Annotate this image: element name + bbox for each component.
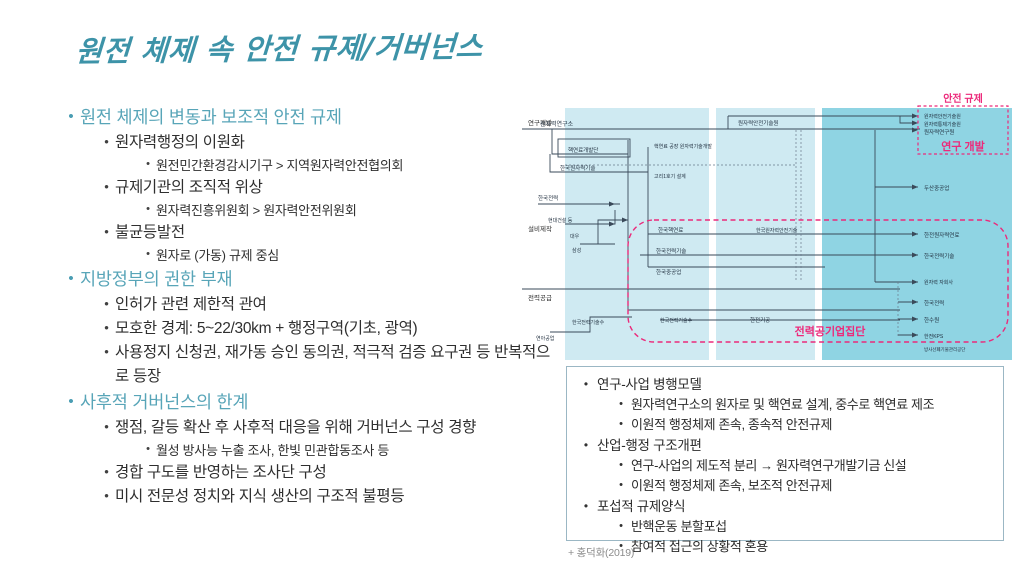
diagram-node-right-5: 한국전력기술 — [924, 252, 954, 260]
diagram-node-left-4: 현대건설 등 — [548, 217, 573, 224]
diagram-node-left-5: 대우 — [570, 233, 580, 240]
bullet-icon: • — [62, 389, 80, 409]
outline-item-label: 인허가 관련 제한적 관여 — [115, 293, 562, 317]
outline-item-l2-3: •규제기관의 조직적 위상 — [98, 176, 562, 200]
outline-item-label: 원전민간환경감시기구 > 지역원자력안전협의회 — [156, 155, 562, 176]
outline-item-l3-6: •원자로 (가동) 규제 중심 — [140, 245, 562, 266]
diagram-node-right-4: 한전원자력연료 — [924, 231, 959, 239]
bullet-icon: • — [575, 435, 597, 451]
summary-item-label: 이원적 행정체제 존속, 보조적 안전규제 — [631, 476, 995, 496]
diagram-node-left-0: 원자력연구소 — [540, 120, 574, 128]
outline-item-l3-13: •월성 방사능 누출 조사, 한빛 민관합동조사 등 — [140, 440, 562, 461]
bullet-icon: • — [140, 440, 156, 455]
governance-diagram: 연구개발 설비제작 전력공급 — [520, 92, 1016, 360]
bullet-icon: • — [62, 266, 80, 286]
diagram-node-right-2: 원자력연구원 — [924, 128, 954, 136]
outline-item-l3-4: •원자력진흥위원회 > 원자력안전위원회 — [140, 200, 562, 221]
diagram-node-right-1: 원자력통제기술원 — [924, 121, 961, 128]
outline-item-label: 모호한 경계: 5~22/30km + 행정구역(기초, 광역) — [115, 317, 562, 341]
bullet-icon: • — [140, 200, 156, 215]
bullet-icon: • — [98, 416, 115, 433]
bullet-icon: • — [98, 341, 115, 358]
summary-item-l2-4: •연구-사업의 제도적 분리 → 원자력연구개발기금 신설 — [611, 456, 995, 476]
summary-item-label: 원자력연구소의 원자로 및 핵연료 설계, 중수로 핵연료 제조 — [631, 395, 995, 415]
outline-item-l2-1: •원자력행정의 이원화 — [98, 131, 562, 155]
bullet-icon: • — [611, 456, 631, 471]
summary-item-l2-8: •참여적 접근의 상황적 혼용 — [611, 537, 995, 557]
diagram-node-center-5: 한국전력기술수 — [660, 317, 693, 324]
outline-item-l2-12: •쟁점, 갈등 확산 후 사후적 대응을 위해 거버넌스 구성 경향 — [98, 416, 562, 440]
diagram-node-right-10: 방사선폐기물관리공단 — [924, 346, 965, 353]
bullet-icon: • — [611, 476, 631, 491]
diagram-node-left-6: 삼성 — [572, 247, 581, 254]
outline-item-l2-8: •인허가 관련 제한적 관여 — [98, 293, 562, 317]
outline-item-label: 경합 구도를 반영하는 조사단 구성 — [115, 461, 562, 485]
outline-item-label: 원자로 (가동) 규제 중심 — [156, 245, 562, 266]
summary-item-l1-6: •포섭적 규제양식 — [575, 496, 995, 517]
diagram-node-center-4: 한국중공업 — [656, 268, 681, 276]
outline-item-label: 불균등발전 — [115, 221, 562, 245]
outline-item-label: 원자력진흥위원회 > 원자력안전위원회 — [156, 200, 562, 221]
outline-item-label: 원자력행정의 이원화 — [115, 131, 562, 155]
diagram-node-center-3: 한국전력기술 — [656, 247, 686, 255]
diagram-row-label-1: 설비제작 — [528, 224, 552, 233]
bullet-icon: • — [611, 517, 631, 532]
bullet-icon: • — [98, 176, 115, 193]
diagram-node-left-8: 연아공업 — [536, 335, 554, 342]
bullet-icon: • — [62, 104, 80, 124]
outline-list: •원전 체제의 변동과 보조적 안전 규제•원자력행정의 이원화•원전민간환경감… — [62, 104, 562, 509]
bullet-icon: • — [98, 317, 115, 334]
outline-item-label: 사후적 거버넌스의 한계 — [80, 389, 562, 415]
outline-item-label: 규제기관의 조직적 위상 — [115, 176, 562, 200]
diagram-node-right-9: 한전KPS — [924, 333, 944, 340]
diagram-node-left-1: 핵연료개발단 — [568, 146, 598, 154]
summary-item-label: 포섭적 규제양식 — [597, 496, 995, 517]
summary-item-l1-0: •연구-사업 병행모델 — [575, 374, 995, 395]
outline-item-label: 쟁점, 갈등 확산 후 사후적 대응을 위해 거버넌스 구성 경향 — [115, 416, 562, 440]
outline-item-l2-10: •사용정지 신청권, 재가동 승인 동의권, 적극적 검증 요구권 등 반복적으… — [98, 341, 562, 389]
bullet-icon: • — [98, 221, 115, 238]
outline-item-l1-0: •원전 체제의 변동과 보조적 안전 규제 — [62, 104, 562, 130]
summary-item-label: 이원적 행정체제 존속, 종속적 안전규제 — [631, 415, 995, 435]
bullet-icon: • — [140, 245, 156, 260]
outline-item-l3-2: •원전민간환경감시기구 > 지역원자력안전협의회 — [140, 155, 562, 176]
diagram-node-right-7: 한국전력 — [924, 299, 944, 307]
source-citation: + 홍덕화(2019) — [568, 545, 634, 560]
summary-box: •연구-사업 병행모델•원자력연구소의 원자로 및 핵연료 설계, 중수로 핵연… — [566, 366, 1004, 541]
summary-item-l2-1: •원자력연구소의 원자로 및 핵연료 설계, 중수로 핵연료 제조 — [611, 395, 995, 415]
summary-item-l1-3: •산업-행정 구조개편 — [575, 435, 995, 456]
summary-item-l2-7: •반핵운동 분할포섭 — [611, 517, 995, 537]
bullet-icon: • — [140, 155, 156, 170]
summary-item-l2-5: •이원적 행정체제 존속, 보조적 안전규제 — [611, 476, 995, 496]
outline-item-label: 원전 체제의 변동과 보조적 안전 규제 — [80, 104, 562, 130]
outline-item-label: 사용정지 신청권, 재가동 승인 동의권, 적극적 검증 요구권 등 반복적으로… — [115, 341, 562, 389]
bullet-icon: • — [575, 496, 597, 512]
diagram-node-center-0: 핵연료 공장 원자력기술개발 — [654, 143, 712, 150]
diagram-canvas: 연구개발 설비제작 전력공급 — [520, 92, 1016, 360]
outline-item-label: 미시 전문성 정치와 지식 생산의 구조적 불평등 — [115, 485, 562, 509]
pink-box-power-group-label: 전력공기업집단 — [795, 324, 866, 338]
summary-item-label: 산업-행정 구조개편 — [597, 435, 995, 456]
outline-item-label: 지방정부의 권한 부재 — [80, 266, 562, 292]
diagram-node-center-6: 원자력안전기술원 — [738, 119, 778, 127]
bullet-icon: • — [611, 395, 631, 410]
outline-item-l1-7: •지방정부의 권한 부재 — [62, 266, 562, 292]
diagram-node-right-6: 원자력 자회사 — [924, 279, 953, 286]
diagram-header-label: 안전 규제 — [943, 92, 983, 105]
diagram-row-label-2: 전력공급 — [528, 293, 552, 302]
summary-item-label: 연구-사업 병행모델 — [597, 374, 995, 395]
diagram-node-left-3: 한국전력 — [538, 194, 558, 202]
bullet-icon: • — [98, 293, 115, 310]
bullet-icon: • — [575, 374, 597, 390]
diagram-node-center-1: 고리1호기 설계 — [654, 173, 686, 180]
pink-box-research-label: 연구 개발 — [941, 139, 985, 153]
diagram-node-right-0: 원자력안전기술원 — [924, 113, 961, 120]
bullet-icon: • — [98, 131, 115, 148]
diagram-node-left-7: 한국전력기술수 — [572, 319, 605, 326]
outline-item-l2-5: •불균등발전 — [98, 221, 562, 245]
summary-item-label: 참여적 접근의 상황적 혼용 — [631, 537, 995, 557]
outline-item-l2-15: •미시 전문성 정치와 지식 생산의 구조적 불평등 — [98, 485, 562, 509]
bullet-icon: • — [98, 461, 115, 478]
summary-item-l2-2: •이원적 행정체제 존속, 종속적 안전규제 — [611, 415, 995, 435]
outline-item-label: 월성 방사능 누출 조사, 한빛 민관합동조사 등 — [156, 440, 562, 461]
outline-item-l2-14: •경합 구도를 반영하는 조사단 구성 — [98, 461, 562, 485]
diagram-node-center-7: 한국원자력안전기술 — [756, 227, 798, 234]
diagram-node-center-2: 한국핵연료 — [658, 226, 683, 234]
outline-item-l2-9: •모호한 경계: 5~22/30km + 행정구역(기초, 광역) — [98, 317, 562, 341]
bullet-icon: • — [611, 415, 631, 430]
bullet-icon: • — [98, 485, 115, 502]
outline-item-l1-11: •사후적 거버넌스의 한계 — [62, 389, 562, 415]
diagram-node-center-8: 한전기공 — [750, 316, 770, 324]
diagram-node-right-3: 두산중공업 — [924, 184, 949, 192]
page-title: 원전 체제 속 안전 규제/거버넌스 — [75, 24, 485, 71]
summary-item-label: 연구-사업의 제도적 분리 → 원자력연구개발기금 신설 — [631, 456, 995, 476]
diagram-node-left-2: 한국원자력기술 — [560, 164, 595, 172]
diagram-node-right-8: 한수원 — [924, 316, 939, 324]
summary-item-label: 반핵운동 분할포섭 — [631, 517, 995, 537]
